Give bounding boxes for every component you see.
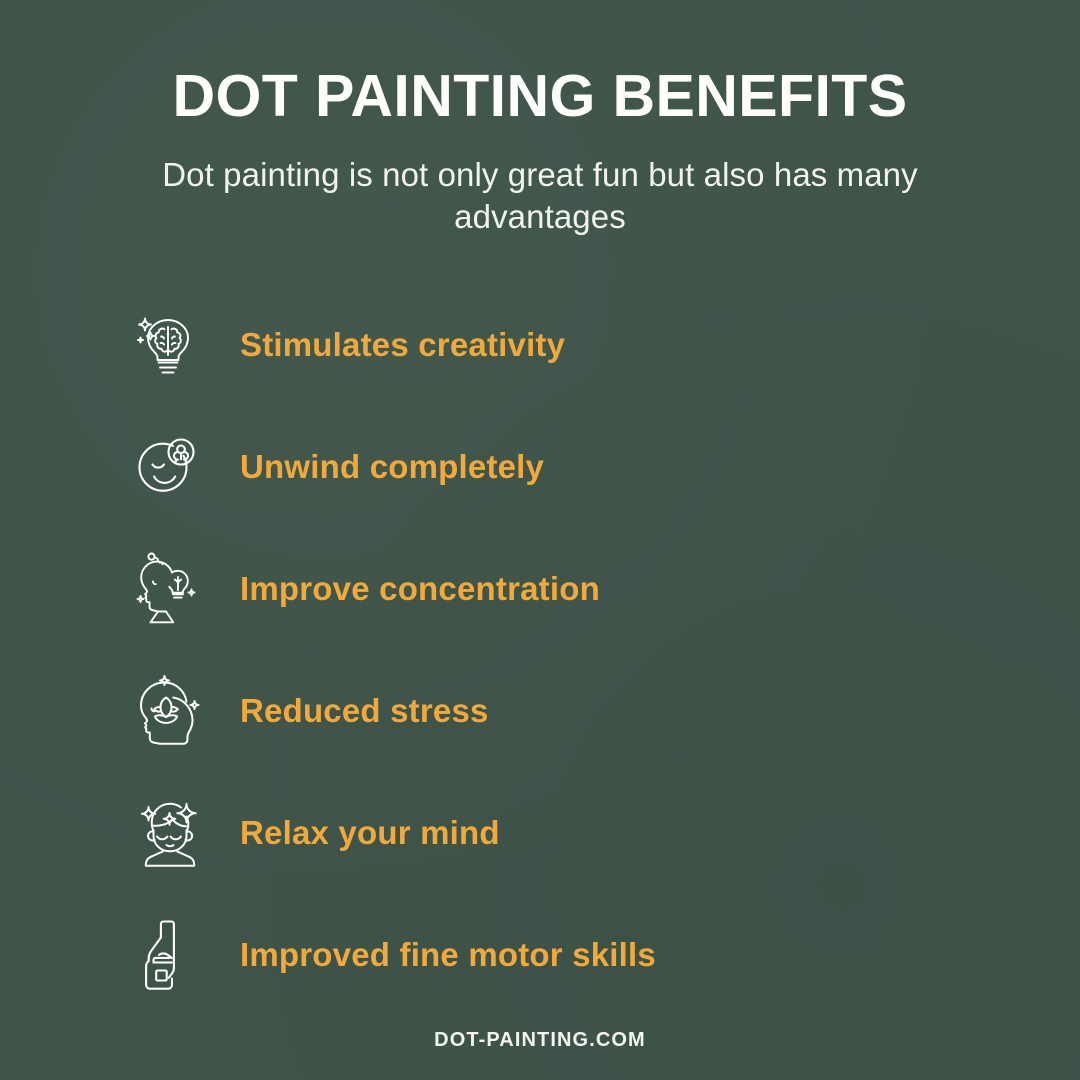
benefit-item-relax-your-mind: Relax your mind (136, 772, 1080, 894)
benefit-label: Unwind completely (240, 448, 544, 486)
poster-canvas: DOT PAINTING BENEFITS Dot painting is no… (0, 0, 1080, 1080)
footer: DOT-PAINTING.COM (0, 1029, 1080, 1052)
face-sparkles-icon (136, 791, 212, 875)
lightbulb-brain-icon (136, 303, 212, 387)
head-lotus-icon (136, 669, 212, 753)
benefit-item-stimulates-creativity: Stimulates creativity (136, 284, 1080, 406)
benefits-list: Stimulates creativity Unwind completely (0, 284, 1080, 1016)
smiley-flower-icon (136, 425, 212, 509)
benefit-item-improve-concentration: Improve concentration (136, 528, 1080, 650)
page-subtitle: Dot painting is not only great fun but a… (145, 154, 935, 238)
benefit-label: Stimulates creativity (240, 326, 565, 364)
page-title: DOT PAINTING BENEFITS (0, 66, 1080, 128)
benefit-label: Relax your mind (240, 814, 500, 852)
benefit-label: Reduced stress (240, 692, 489, 730)
benefit-label: Improved fine motor skills (240, 936, 656, 974)
benefit-item-reduced-stress: Reduced stress (136, 650, 1080, 772)
hand-holding-icon (136, 913, 212, 997)
website-url: DOT-PAINTING.COM (434, 1029, 646, 1051)
benefit-item-improved-fine-motor-skills: Improved fine motor skills (136, 894, 1080, 1016)
head-lightbulb-icon (136, 547, 212, 631)
benefit-label: Improve concentration (240, 570, 600, 608)
poster-header: DOT PAINTING BENEFITS Dot painting is no… (0, 0, 1080, 238)
benefit-item-unwind-completely: Unwind completely (136, 406, 1080, 528)
